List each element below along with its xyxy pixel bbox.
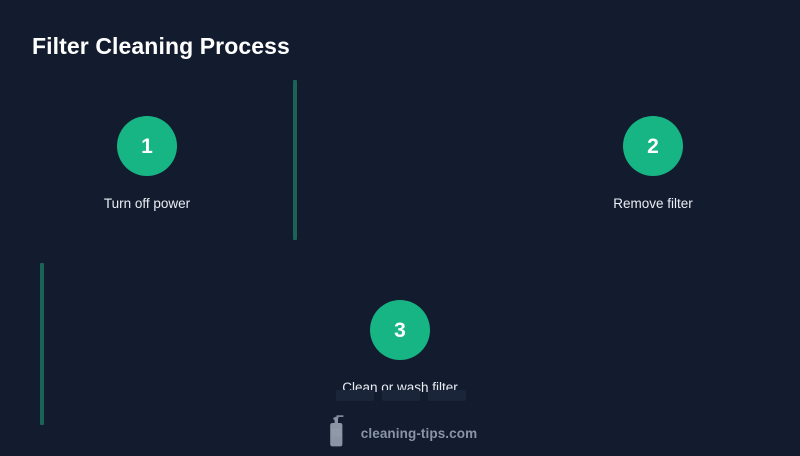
footer: cleaning-tips.com: [0, 414, 800, 453]
spray-bottle-icon: [323, 414, 349, 453]
step-label-2: Remove filter: [613, 196, 693, 211]
upper-accent-bar: [293, 80, 297, 240]
step-item-3: 3 Clean or wash filter: [300, 300, 500, 395]
step-number-badge-1: 1: [117, 116, 177, 176]
step-item-1: 1 Turn off power: [47, 116, 247, 211]
step-item-2: 2 Remove filter: [553, 116, 753, 211]
step-label-1: Turn off power: [104, 196, 190, 211]
step-number-badge-3: 3: [370, 300, 430, 360]
decorative-block: [382, 390, 420, 401]
step-number-badge-2: 2: [623, 116, 683, 176]
lower-accent-bar: [40, 263, 44, 425]
page-title: Filter Cleaning Process: [32, 33, 290, 60]
footer-site-label: cleaning-tips.com: [361, 426, 477, 441]
decorative-blocks: [336, 390, 466, 401]
decorative-block: [428, 390, 466, 401]
decorative-block: [336, 390, 374, 401]
infographic-canvas: Filter Cleaning Process 1 Turn off power…: [0, 0, 800, 456]
